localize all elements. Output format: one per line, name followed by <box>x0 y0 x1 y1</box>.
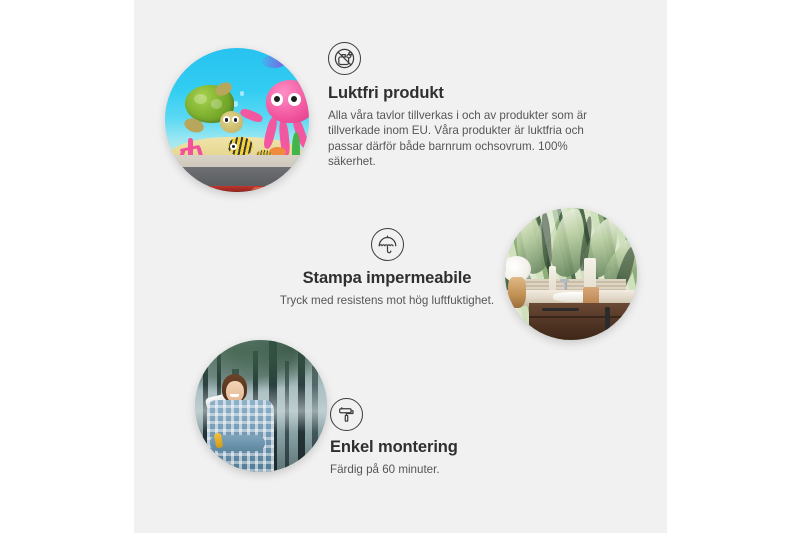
feature-odourless: Luktfri produkt Alla våra tavlor tillver… <box>328 42 620 170</box>
turtle-eye <box>223 116 230 123</box>
umbrella-icon <box>371 228 404 261</box>
blue-fish-icon <box>262 55 286 68</box>
underwater-kids-mural-thumbnail <box>165 48 309 192</box>
feature-waterproof: Stampa impermeabile Tryck med resistens … <box>218 228 556 308</box>
room-foreground <box>165 155 309 192</box>
feature-description: Färdig på 60 minuter. <box>330 462 610 477</box>
paint-roller-icon <box>330 398 363 431</box>
ocean-scene <box>165 48 309 192</box>
wood-vanity-cabinet <box>529 303 637 340</box>
octopus-head <box>266 80 309 123</box>
red-armchair <box>251 187 309 192</box>
octopus-eye <box>288 93 301 106</box>
drawer-handle <box>542 308 579 311</box>
bubble-icon <box>240 91 244 95</box>
feature-description: Tryck med resistens mot hög luftfuktighe… <box>218 293 556 308</box>
woman-paint-roller-forest-thumbnail <box>195 340 327 472</box>
feature-title: Stampa impermeabile <box>218 269 556 288</box>
striped-fish-icon <box>228 137 252 156</box>
octopus-eye <box>271 93 284 106</box>
benefits-panel: Luktfri produkt Alla våra tavlor tillver… <box>134 0 667 533</box>
woman-figure <box>203 374 277 472</box>
door-handle <box>605 307 610 330</box>
forest-scene <box>195 340 327 472</box>
turtle-head <box>220 111 243 133</box>
no-fragrance-icon <box>328 42 361 75</box>
feature-title: Enkel montering <box>330 438 610 457</box>
feature-assembly: Enkel montering Färdig på 60 minuter. <box>330 398 610 477</box>
turtle-eye <box>232 116 239 123</box>
feature-description: Alla våra tavlor tillverkas i och av pro… <box>328 108 606 170</box>
feature-title: Luktfri produkt <box>328 84 620 103</box>
product-benefits-infographic: Luktfri produkt Alla våra tavlor tillver… <box>0 0 800 533</box>
